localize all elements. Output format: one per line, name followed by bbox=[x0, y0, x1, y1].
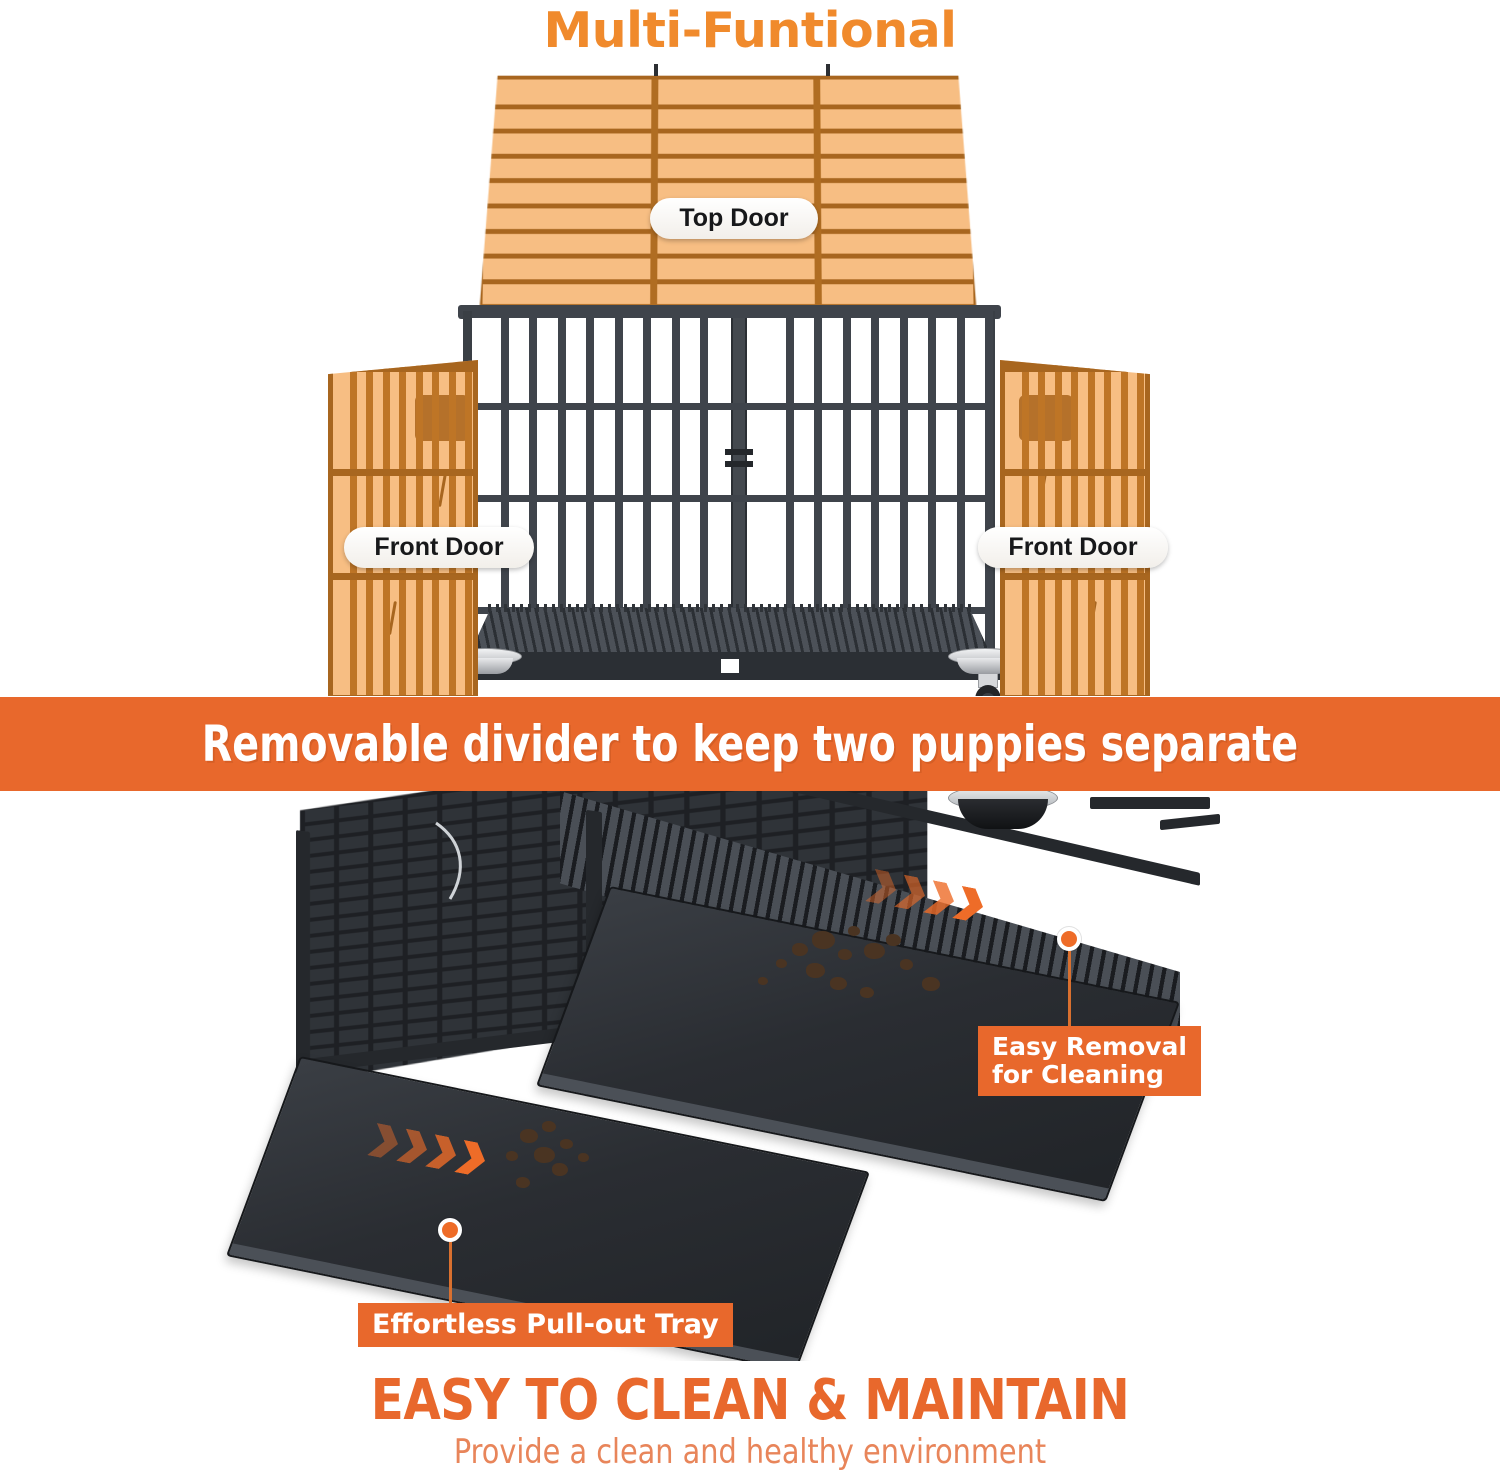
wire-hook-icon bbox=[428, 819, 488, 909]
cage-horizontal-bar bbox=[472, 495, 986, 502]
feeding-bowl bbox=[948, 791, 1058, 833]
center-latch-lower bbox=[725, 461, 753, 467]
debris-dirt bbox=[860, 987, 874, 998]
callout-easy-removal-line2: for Cleaning bbox=[992, 1061, 1164, 1089]
chevron-icon bbox=[894, 875, 930, 912]
base-frame bbox=[452, 652, 1008, 680]
base-center-notch bbox=[721, 659, 739, 673]
debris-dirt bbox=[830, 977, 847, 990]
top-door-slat bbox=[483, 279, 973, 284]
cage-vertical-bar bbox=[985, 311, 993, 656]
caster-wheel bbox=[975, 672, 1001, 696]
cage-horizontal-bar bbox=[472, 403, 986, 410]
debris-dirt bbox=[560, 1139, 573, 1149]
callout-front-door-right: Front Door bbox=[978, 527, 1168, 568]
top-door-hinge-left bbox=[654, 64, 658, 76]
front-door-right-rail bbox=[1005, 469, 1145, 476]
divider-banner-text: Removable divider to keep two puppies se… bbox=[202, 715, 1298, 773]
callout-top-door: Top Door bbox=[650, 198, 818, 239]
callout-top-door-label: Top Door bbox=[679, 204, 788, 233]
callout-leader-pull-out-tray bbox=[449, 1242, 452, 1306]
center-latch-upper bbox=[725, 449, 753, 455]
cage-side-rail bbox=[1160, 814, 1220, 830]
debris-dirt bbox=[838, 949, 852, 960]
callout-easy-removal-line1: Easy Removal bbox=[992, 1033, 1187, 1061]
bowl-base bbox=[958, 799, 1048, 829]
debris-dirt bbox=[864, 943, 885, 959]
bottom-product-scene bbox=[0, 791, 1500, 1361]
top-door-slat bbox=[483, 254, 972, 259]
footer-subheading: Provide a clean and healthy environment bbox=[45, 1432, 1455, 1472]
callout-pull-out-tray-label: Effortless Pull-out Tray bbox=[372, 1310, 719, 1340]
top-door-slat bbox=[486, 104, 970, 109]
debris-dirt bbox=[922, 977, 940, 991]
grate-top-edge bbox=[488, 604, 972, 612]
callout-front-door-left-label: Front Door bbox=[374, 533, 503, 562]
callout-easy-removal: Easy Removal for Cleaning bbox=[978, 1026, 1201, 1096]
top-door-slat bbox=[486, 129, 971, 134]
top-door-slat bbox=[485, 179, 971, 184]
top-product-scene: Top Door Front Door Front Door bbox=[0, 56, 1500, 696]
front-door-right-rail bbox=[1005, 695, 1145, 696]
footer-heading: EASY TO CLEAN & MAINTAIN bbox=[30, 1368, 1470, 1433]
debris-dirt bbox=[900, 959, 913, 970]
front-door-left-rail bbox=[333, 573, 473, 580]
chevron-icon bbox=[396, 1129, 432, 1166]
debris-dirt bbox=[776, 959, 787, 968]
chevron-icon bbox=[425, 1134, 461, 1171]
floor-grate bbox=[470, 608, 990, 653]
top-door-divider bbox=[813, 80, 822, 325]
cage-side-rail bbox=[1090, 797, 1210, 809]
callout-dot-pull-out-tray bbox=[438, 1218, 462, 1242]
callout-dot-easy-removal bbox=[1057, 927, 1081, 951]
door-latch-plate bbox=[415, 395, 469, 441]
callout-front-door-right-label: Front Door bbox=[1008, 533, 1137, 562]
top-door-hinge-right bbox=[826, 64, 830, 76]
front-door-right-rail bbox=[1005, 573, 1145, 580]
callout-front-door-left: Front Door bbox=[344, 527, 534, 568]
divider-banner: Removable divider to keep two puppies se… bbox=[0, 697, 1500, 791]
top-door-slat bbox=[485, 154, 971, 159]
debris-dirt bbox=[506, 1151, 518, 1161]
debris-dirt bbox=[552, 1163, 568, 1176]
debris-dirt bbox=[542, 1121, 556, 1132]
front-door-left-rail bbox=[333, 695, 473, 696]
page-title: Multi-Funtional bbox=[0, 2, 1500, 59]
debris-dirt bbox=[578, 1153, 589, 1162]
front-door-left-rail bbox=[333, 469, 473, 476]
front-door-left-rail bbox=[333, 365, 473, 372]
callout-pull-out-tray: Effortless Pull-out Tray bbox=[358, 1303, 733, 1347]
debris-dirt bbox=[520, 1129, 538, 1143]
infographic-page: Multi-Funtional bbox=[0, 0, 1500, 1478]
debris-dirt bbox=[758, 977, 768, 985]
callout-leader-easy-removal bbox=[1068, 951, 1071, 1029]
debris-dirt bbox=[516, 1177, 530, 1188]
debris-dirt bbox=[806, 963, 825, 978]
debris-dirt bbox=[792, 943, 808, 956]
cage-horizontal-bar bbox=[472, 311, 986, 318]
debris-dirt bbox=[812, 931, 835, 949]
door-hook bbox=[438, 473, 447, 507]
debris-dirt bbox=[534, 1147, 555, 1163]
debris-dirt bbox=[886, 934, 901, 946]
debris-dirt bbox=[848, 926, 860, 936]
chevron-icon bbox=[923, 880, 959, 917]
front-door-right-rail bbox=[1005, 365, 1145, 372]
